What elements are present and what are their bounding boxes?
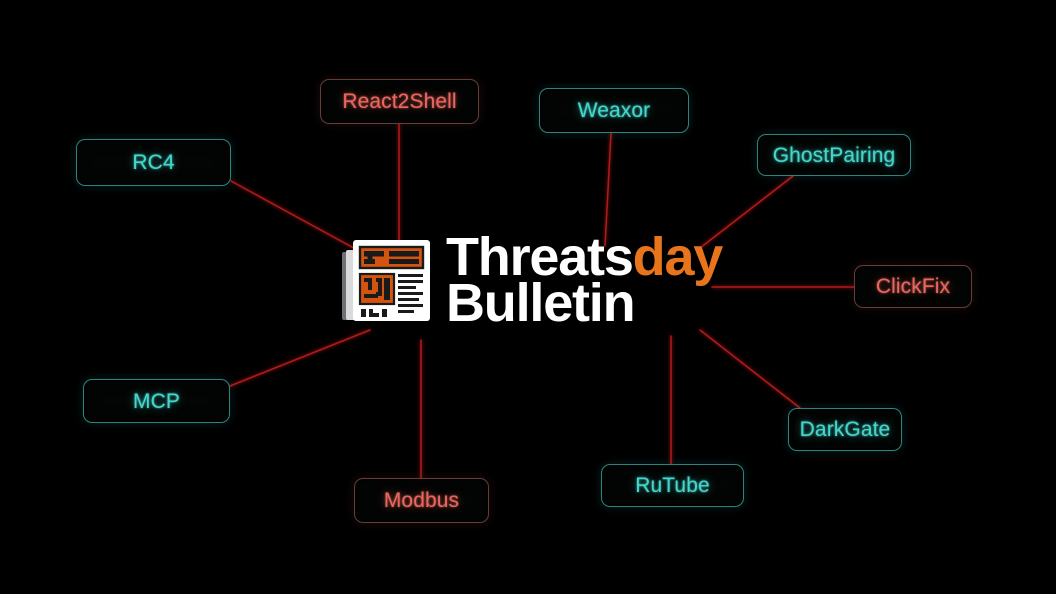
node-modbus[interactable]: Modbus bbox=[354, 478, 489, 523]
node-label-modbus: Modbus bbox=[384, 490, 459, 511]
node-label-rutube: RuTube bbox=[635, 475, 710, 496]
node-label-clickfix: ClickFix bbox=[876, 276, 950, 297]
edge-darkgate bbox=[700, 330, 800, 408]
node-mcp[interactable]: MCP bbox=[83, 379, 230, 423]
brand-logo: Threatsday Bulletin bbox=[340, 234, 722, 327]
node-label-rc4: RC4 bbox=[132, 152, 174, 173]
node-clickfix[interactable]: ClickFix bbox=[854, 265, 972, 308]
node-darkgate[interactable]: DarkGate bbox=[788, 408, 902, 451]
node-label-darkgate: DarkGate bbox=[800, 419, 891, 440]
brand-line-2: Bulletin bbox=[446, 280, 722, 326]
node-rc4[interactable]: RC4 bbox=[76, 139, 231, 186]
brand-wordmark: Threatsday Bulletin bbox=[446, 234, 722, 327]
edge-mcp bbox=[230, 330, 370, 386]
node-ghostpairing[interactable]: GhostPairing bbox=[757, 134, 911, 176]
node-label-react2shell: React2Shell bbox=[342, 91, 456, 112]
brand-bulletin-text: Bulletin bbox=[446, 280, 634, 326]
node-label-weaxor: Weaxor bbox=[578, 100, 651, 121]
brand-day-text: day bbox=[633, 234, 722, 280]
node-weaxor[interactable]: Weaxor bbox=[539, 88, 689, 133]
threat-map-canvas: RC4React2ShellWeaxorGhostPairingClickFix… bbox=[0, 0, 1056, 594]
newspaper-icon bbox=[340, 236, 432, 324]
node-label-mcp: MCP bbox=[133, 391, 180, 412]
node-label-ghostpairing: GhostPairing bbox=[773, 145, 896, 166]
node-rutube[interactable]: RuTube bbox=[601, 464, 744, 507]
node-react2shell[interactable]: React2Shell bbox=[320, 79, 479, 124]
